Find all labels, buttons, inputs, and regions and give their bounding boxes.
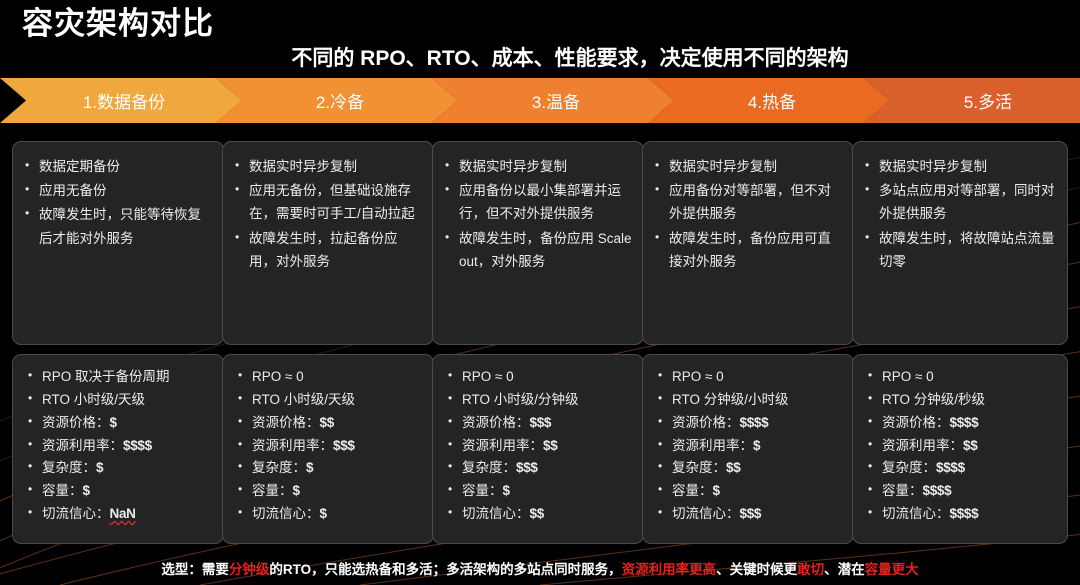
metric-label: 容量： xyxy=(882,483,923,498)
metric-label: RTO 分钟级/小时级 xyxy=(672,392,789,407)
metric-label: 切流信心： xyxy=(462,506,530,521)
list-item: 多站点应用对等部署，同时对外提供服务 xyxy=(864,179,1056,225)
page-subtitle: 不同的 RPO、RTO、成本、性能要求，决定使用不同的架构 xyxy=(0,42,1080,72)
metric-value: $ xyxy=(306,460,313,475)
metric-item: 容量：$ xyxy=(27,480,212,502)
top-card-list: 数据定期备份应用无备份故障发生时，只能等待恢复后才能对外服务 xyxy=(24,155,212,250)
metric-item: 资源价格：$$$$ xyxy=(867,412,1056,434)
metric-value: $$$ xyxy=(530,415,552,430)
metric-item: 切流信心：$$$$ xyxy=(867,503,1056,525)
stage-chevron-label: 5.多活 xyxy=(958,88,1012,113)
metric-label: RTO 分钟级/秒级 xyxy=(882,392,985,407)
bottom-card-2: RPO ≈ 0RTO 小时级/天级资源价格：$$资源利用率：$$$复杂度：$容量… xyxy=(222,354,434,544)
stage-chevron-4[interactable]: 4.热备 xyxy=(648,78,890,123)
list-item: 数据实时异步复制 xyxy=(654,155,842,178)
stage-chevron-band: 1.数据备份2.冷备3.温备4.热备5.多活 xyxy=(0,78,1080,123)
metric-item: RPO ≈ 0 xyxy=(657,366,842,388)
metric-item: 复杂度：$$ xyxy=(657,457,842,479)
metric-label: RPO ≈ 0 xyxy=(672,369,724,384)
metric-item: 切流信心：$$ xyxy=(447,503,632,525)
metric-label: 资源价格： xyxy=(462,415,530,430)
metric-label: 资源利用率： xyxy=(882,438,963,453)
top-card-list: 数据实时异步复制多站点应用对等部署，同时对外提供服务故障发生时，将故障站点流量切… xyxy=(864,155,1056,273)
footer-text: 选型：需要 xyxy=(161,562,229,577)
metric-item: 切流信心：NaN xyxy=(27,503,212,525)
footer-summary: 选型：需要分钟级的RTO，只能选热备和多活；多活架构的多站点同时服务，资源利用率… xyxy=(0,558,1080,578)
footer-highlight: 资源利用率更高 xyxy=(622,562,717,577)
top-card-list: 数据实时异步复制应用备份以最小集部署并运行，但不对外提供服务故障发生时，备份应用… xyxy=(444,155,632,273)
metric-label: 容量： xyxy=(42,483,83,498)
bottom-card-list: RPO ≈ 0RTO 分钟级/秒级资源价格：$$$$资源利用率：$$复杂度：$$… xyxy=(867,366,1056,525)
metric-label: 切流信心： xyxy=(882,506,950,521)
footer-text: 的RTO，只能选热备和多活；多活架构的多站点同时服务， xyxy=(269,562,621,577)
footer-highlight: 容量更大 xyxy=(865,562,919,577)
metric-value: $$ xyxy=(963,438,977,453)
metric-item: RPO ≈ 0 xyxy=(237,366,422,388)
metric-label: 复杂度： xyxy=(672,460,726,475)
metric-value: $$$ xyxy=(740,506,762,521)
metric-item: 资源价格：$$$$ xyxy=(657,412,842,434)
metric-item: 资源利用率：$$ xyxy=(867,435,1056,457)
metric-label: 切流信心： xyxy=(672,506,740,521)
list-item: 应用无备份，但基础设施存在，需要时可手工/自动拉起 xyxy=(234,179,422,225)
list-item: 数据实时异步复制 xyxy=(444,155,632,178)
metric-label: RTO 小时级/天级 xyxy=(252,392,355,407)
top-card-list: 数据实时异步复制应用备份对等部署，但不对外提供服务故障发生时，备份应用可直接对外… xyxy=(654,155,842,273)
bottom-card-list: RPO ≈ 0RTO 小时级/天级资源价格：$$资源利用率：$$$复杂度：$容量… xyxy=(237,366,422,525)
list-item: 应用无备份 xyxy=(24,179,212,202)
metric-item: 资源价格：$$ xyxy=(237,412,422,434)
metric-label: 资源利用率： xyxy=(42,438,123,453)
metric-item: 切流信心：$$$ xyxy=(657,503,842,525)
metric-label: 复杂度： xyxy=(252,460,306,475)
metric-label: 资源价格： xyxy=(42,415,110,430)
metric-label: RTO 小时级/分钟级 xyxy=(462,392,579,407)
list-item: 故障发生时，将故障站点流量切零 xyxy=(864,227,1056,273)
slide-root: 容灾架构对比 不同的 RPO、RTO、成本、性能要求，决定使用不同的架构 1.数… xyxy=(0,0,1080,585)
list-item: 应用备份以最小集部署并运行，但不对外提供服务 xyxy=(444,179,632,225)
top-card-2: 数据实时异步复制应用无备份，但基础设施存在，需要时可手工/自动拉起故障发生时，拉… xyxy=(222,141,434,345)
list-item: 故障发生时，拉起备份应用，对外服务 xyxy=(234,227,422,273)
metric-item: 资源利用率：$$ xyxy=(447,435,632,457)
metric-label: 容量： xyxy=(672,483,713,498)
metric-item: RPO 取决于备份周期 xyxy=(27,366,212,388)
metric-item: 容量：$$$$ xyxy=(867,480,1056,502)
bottom-card-list: RPO 取决于备份周期RTO 小时级/天级资源价格：$资源利用率：$$$$复杂度… xyxy=(27,366,212,525)
metric-value: $$ xyxy=(726,460,740,475)
list-item: 故障发生时，备份应用可直接对外服务 xyxy=(654,227,842,273)
metric-item: 复杂度：$$$$ xyxy=(867,457,1056,479)
metric-item: 资源价格：$ xyxy=(27,412,212,434)
metric-value: $$$$ xyxy=(740,415,769,430)
stage-chevron-5[interactable]: 5.多活 xyxy=(864,78,1080,123)
footer-highlight: 敢切 xyxy=(797,562,824,577)
metric-value: $ xyxy=(96,460,103,475)
top-card-1: 数据定期备份应用无备份故障发生时，只能等待恢复后才能对外服务 xyxy=(12,141,224,345)
metric-item: RTO 小时级/天级 xyxy=(27,389,212,411)
metric-label: 复杂度： xyxy=(462,460,516,475)
metric-label: 切流信心： xyxy=(252,506,320,521)
top-card-3: 数据实时异步复制应用备份以最小集部署并运行，但不对外提供服务故障发生时，备份应用… xyxy=(432,141,644,345)
stage-chevron-label: 2.冷备 xyxy=(310,88,364,113)
stage-chevron-label: 4.热备 xyxy=(742,88,796,113)
metric-item: 容量：$ xyxy=(237,480,422,502)
list-item: 数据实时异步复制 xyxy=(864,155,1056,178)
metric-item: 复杂度：$ xyxy=(237,457,422,479)
metric-value: $$$ xyxy=(516,460,538,475)
metric-item: 复杂度：$ xyxy=(27,457,212,479)
metric-value: $ xyxy=(503,483,510,498)
metric-value: $ xyxy=(713,483,720,498)
list-item: 应用备份对等部署，但不对外提供服务 xyxy=(654,179,842,225)
metric-label: 资源利用率： xyxy=(462,438,543,453)
metric-item: RPO ≈ 0 xyxy=(447,366,632,388)
metric-item: 容量：$ xyxy=(657,480,842,502)
metric-item: 资源利用率：$ xyxy=(657,435,842,457)
metric-item: 切流信心：$ xyxy=(237,503,422,525)
stage-chevron-label: 1.数据备份 xyxy=(77,88,165,113)
list-item: 数据定期备份 xyxy=(24,155,212,178)
metric-item: RPO ≈ 0 xyxy=(867,366,1056,388)
top-card-list: 数据实时异步复制应用无备份，但基础设施存在，需要时可手工/自动拉起故障发生时，拉… xyxy=(234,155,422,273)
metric-value: $ xyxy=(320,506,327,521)
list-item: 数据实时异步复制 xyxy=(234,155,422,178)
bottom-card-list: RPO ≈ 0RTO 小时级/分钟级资源价格：$$$资源利用率：$$复杂度：$$… xyxy=(447,366,632,525)
metric-value: $$$$ xyxy=(923,483,952,498)
metric-item: 容量：$ xyxy=(447,480,632,502)
metric-value: $$$$ xyxy=(950,415,979,430)
footer-text: 、潜在 xyxy=(824,562,865,577)
metric-label: RTO 小时级/天级 xyxy=(42,392,145,407)
metric-item: RTO 分钟级/小时级 xyxy=(657,389,842,411)
metric-label: 复杂度： xyxy=(42,460,96,475)
stage-chevron-1[interactable]: 1.数据备份 xyxy=(0,78,242,123)
bottom-card-list: RPO ≈ 0RTO 分钟级/小时级资源价格：$$$$资源利用率：$复杂度：$$… xyxy=(657,366,842,525)
metric-value: $ xyxy=(753,438,760,453)
footer-text: 、关键时候更 xyxy=(716,562,797,577)
list-item: 故障发生时，只能等待恢复后才能对外服务 xyxy=(24,203,212,249)
metric-label: 资源利用率： xyxy=(672,438,753,453)
stage-chevron-3[interactable]: 3.温备 xyxy=(432,78,674,123)
list-item: 故障发生时，备份应用 Scale out，对外服务 xyxy=(444,227,632,273)
metric-item: 资源利用率：$$$$ xyxy=(27,435,212,457)
metric-value: $$$ xyxy=(333,438,355,453)
top-card-4: 数据实时异步复制应用备份对等部署，但不对外提供服务故障发生时，备份应用可直接对外… xyxy=(642,141,854,345)
metric-label: 资源价格： xyxy=(882,415,950,430)
metric-label: RPO ≈ 0 xyxy=(462,369,514,384)
metric-label: 容量： xyxy=(462,483,503,498)
metric-value: $ xyxy=(83,483,90,498)
metric-value-invalid: NaN xyxy=(110,506,136,521)
bottom-card-4: RPO ≈ 0RTO 分钟级/小时级资源价格：$$$$资源利用率：$复杂度：$$… xyxy=(642,354,854,544)
metric-value: $$ xyxy=(320,415,334,430)
bottom-card-3: RPO ≈ 0RTO 小时级/分钟级资源价格：$$$资源利用率：$$复杂度：$$… xyxy=(432,354,644,544)
metric-value: $$$$ xyxy=(123,438,152,453)
top-card-5: 数据实时异步复制多站点应用对等部署，同时对外提供服务故障发生时，将故障站点流量切… xyxy=(852,141,1068,345)
metric-value: $$$$ xyxy=(936,460,965,475)
metric-label: 容量： xyxy=(252,483,293,498)
metric-label: 资源利用率： xyxy=(252,438,333,453)
footer-highlight: 分钟级 xyxy=(229,562,270,577)
metric-label: 资源价格： xyxy=(252,415,320,430)
stage-chevron-2[interactable]: 2.冷备 xyxy=(216,78,458,123)
metric-label: RPO ≈ 0 xyxy=(252,369,304,384)
metric-item: RTO 小时级/天级 xyxy=(237,389,422,411)
bottom-card-5: RPO ≈ 0RTO 分钟级/秒级资源价格：$$$$资源利用率：$$复杂度：$$… xyxy=(852,354,1068,544)
metric-label: 复杂度： xyxy=(882,460,936,475)
metric-value: $ xyxy=(110,415,117,430)
bottom-card-1: RPO 取决于备份周期RTO 小时级/天级资源价格：$资源利用率：$$$$复杂度… xyxy=(12,354,224,544)
metric-value: $$ xyxy=(543,438,557,453)
stage-chevron-label: 3.温备 xyxy=(526,88,580,113)
metric-value: $$ xyxy=(530,506,544,521)
metric-label: RPO ≈ 0 xyxy=(882,369,934,384)
metric-value: $ xyxy=(293,483,300,498)
metric-label: 切流信心： xyxy=(42,506,110,521)
metric-value: $$$$ xyxy=(950,506,979,521)
metric-label: 资源价格： xyxy=(672,415,740,430)
metric-item: RTO 小时级/分钟级 xyxy=(447,389,632,411)
metric-item: 资源利用率：$$$ xyxy=(237,435,422,457)
metric-label: RPO 取决于备份周期 xyxy=(42,369,170,384)
metric-item: RTO 分钟级/秒级 xyxy=(867,389,1056,411)
metric-item: 复杂度：$$$ xyxy=(447,457,632,479)
metric-item: 资源价格：$$$ xyxy=(447,412,632,434)
page-title: 容灾架构对比 xyxy=(22,0,214,43)
